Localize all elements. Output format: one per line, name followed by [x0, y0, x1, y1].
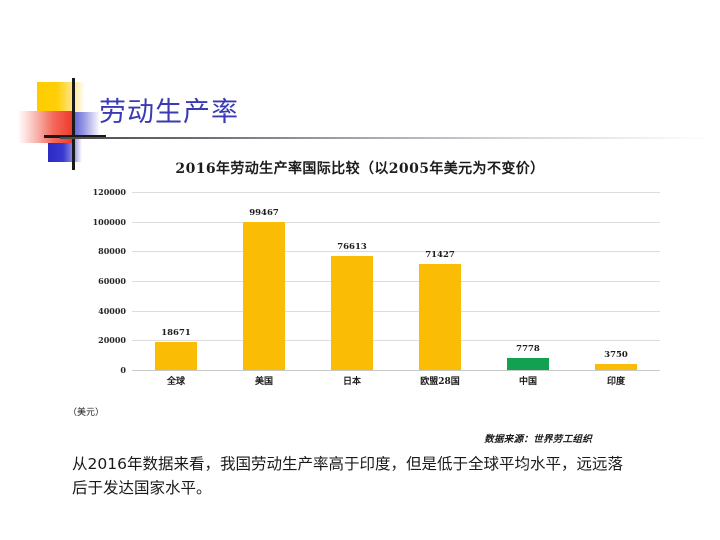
gridline [132, 370, 660, 371]
x-axis-labels: 全球美国日本欧盟28国中国印度 [132, 374, 660, 394]
bar-中国 [507, 358, 549, 370]
chart-plot-wrapper: 020000400006000080000100000120000 186719… [60, 192, 660, 392]
chart-title: 2016年劳动生产率国际比较（以2005年美元为不变价） [60, 158, 660, 178]
y-axis-tick-label: 100000 [66, 217, 126, 227]
bar-value-label: 99467 [249, 208, 279, 218]
body-paragraph: 从2016年数据来看，我国劳动生产率高于印度，但是低于全球平均水平，远远落后于发… [72, 452, 628, 500]
title-divider [60, 137, 712, 139]
x-axis-label-日本: 日本 [308, 374, 396, 387]
bar-value-label: 3750 [604, 350, 628, 360]
bar-日本 [331, 256, 373, 370]
page-title: 劳动生产率 [99, 96, 239, 130]
bar-value-label: 7778 [516, 344, 540, 354]
y-axis-unit-label: （美元） [68, 405, 104, 418]
y-axis-tick-label: 0 [66, 365, 126, 375]
bar-group: 3750 [572, 192, 660, 370]
bar-印度 [595, 364, 637, 370]
y-axis-tick-label: 20000 [66, 335, 126, 345]
y-axis-tick-label: 80000 [66, 246, 126, 256]
bar-group: 76613 [308, 192, 396, 370]
bar-value-label: 71427 [425, 250, 455, 260]
x-axis-label-欧盟28国: 欧盟28国 [396, 374, 484, 387]
bar-group: 18671 [132, 192, 220, 370]
bar-欧盟28国 [419, 264, 461, 370]
y-axis-ticks: 020000400006000080000100000120000 [60, 192, 126, 370]
bar-value-label: 76613 [337, 242, 367, 252]
y-axis-tick-label: 40000 [66, 306, 126, 316]
y-axis-tick-label: 120000 [66, 187, 126, 197]
x-axis-label-美国: 美国 [220, 374, 308, 387]
bar-value-label: 18671 [161, 328, 191, 338]
bar-chart: 2016年劳动生产率国际比较（以2005年美元为不变价） 02000040000… [60, 150, 660, 440]
bar-group: 7778 [484, 192, 572, 370]
bar-全球 [155, 342, 197, 370]
bar-group: 99467 [220, 192, 308, 370]
x-axis-label-全球: 全球 [132, 374, 220, 387]
bar-layer: 1867199467766137142777783750 [132, 192, 660, 370]
y-axis-tick-label: 60000 [66, 276, 126, 286]
chart-plot-area: 1867199467766137142777783750 [132, 192, 660, 370]
bar-group: 71427 [396, 192, 484, 370]
x-axis-label-印度: 印度 [572, 374, 660, 387]
x-axis-label-中国: 中国 [484, 374, 572, 387]
bar-美国 [243, 222, 285, 370]
slide-canvas: 劳动生产率 2016年劳动生产率国际比较（以2005年美元为不变价） 02000… [0, 0, 720, 540]
chart-source-note: 数据来源：世界劳工组织 [484, 431, 592, 445]
